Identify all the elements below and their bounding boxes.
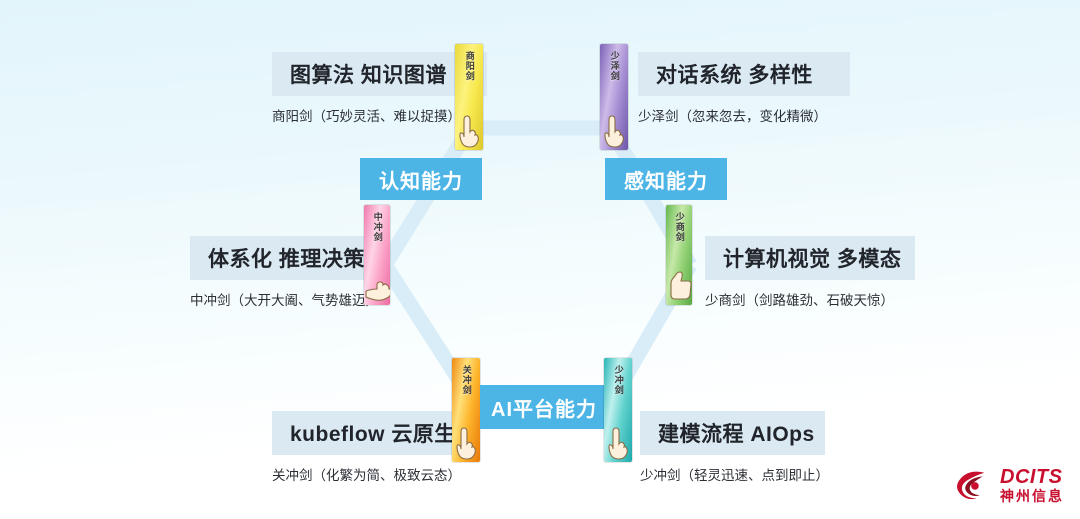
item-title: 对话系统 多样性	[656, 59, 813, 89]
item-title: 图算法 知识图谱	[290, 59, 447, 89]
logo-cn: 神州信息	[1000, 489, 1064, 503]
item-subtitle: 少泽剑（忽来忽去，变化精微）	[638, 105, 850, 125]
hand-point-side-icon	[364, 269, 390, 305]
sword-guanchong[interactable]: 关冲剑	[452, 358, 480, 462]
sword-label: 中冲剑	[372, 212, 381, 242]
capability-cognitive[interactable]: 认知能力	[360, 158, 482, 200]
item-title: 计算机视觉 多模态	[723, 243, 901, 273]
capability-label: 感知能力	[624, 165, 708, 194]
logo-wordmark: DCITS 神州信息	[1000, 467, 1064, 503]
item-title-band: 建模流程 AIOps	[640, 411, 825, 455]
hand-point-up-icon	[600, 112, 628, 148]
hand-point-up-icon	[452, 424, 480, 460]
capability-label: 认知能力	[379, 165, 463, 194]
sword-label: 少泽剑	[609, 51, 618, 81]
sword-label: 少商剑	[674, 212, 683, 242]
item-title-band: 体系化 推理决策	[190, 236, 386, 280]
sword-label: 商阳剑	[464, 51, 473, 81]
capability-ai-platform[interactable]: AI平台能力	[480, 385, 608, 429]
hand-point-up-icon	[604, 424, 632, 460]
sword-shaoze[interactable]: 少泽剑	[600, 44, 628, 150]
hexagon-connector-band	[0, 0, 1080, 519]
item-dialogue-system[interactable]: 对话系统 多样性 少泽剑（忽来忽去，变化精微）	[638, 52, 850, 125]
item-subtitle: 关冲剑（化繁为简、极致云态）	[272, 464, 472, 484]
capability-label: AI平台能力	[491, 393, 597, 422]
item-kubeflow-cloudnative[interactable]: kubeflow 云原生 关冲剑（化繁为简、极致云态）	[272, 411, 472, 484]
dcits-swirl-icon	[955, 468, 993, 502]
item-computer-vision[interactable]: 计算机视觉 多模态 少商剑（剑路雄劲、石破天惊）	[705, 236, 915, 309]
diagram-canvas: 图算法 知识图谱 商阳剑（巧妙灵活、难以捉摸） 商阳剑 少泽剑 对话系统 多样性…	[0, 0, 1080, 519]
sword-label: 关冲剑	[461, 365, 470, 395]
item-title-band: 对话系统 多样性	[638, 52, 850, 96]
item-modeling-aiops[interactable]: 建模流程 AIOps 少冲剑（轻灵迅速、点到即止）	[640, 411, 825, 484]
item-reasoning-decision[interactable]: 体系化 推理决策 中冲剑（大开大阖、气势雄迈）	[190, 236, 386, 309]
item-subtitle: 少商剑（剑路雄劲、石破天惊）	[705, 289, 915, 309]
capability-perceptive[interactable]: 感知能力	[605, 158, 727, 200]
sword-label: 少冲剑	[613, 365, 622, 395]
hand-point-up-icon	[455, 112, 483, 148]
sword-shaoshang[interactable]: 少商剑	[666, 205, 692, 305]
sword-shaochong[interactable]: 少冲剑	[604, 358, 632, 462]
sword-zhongchong[interactable]: 中冲剑	[364, 205, 390, 305]
item-subtitle: 少冲剑（轻灵迅速、点到即止）	[640, 464, 825, 484]
item-title: 建模流程 AIOps	[658, 418, 815, 448]
sword-shangyang[interactable]: 商阳剑	[455, 44, 483, 150]
item-title-band: 计算机视觉 多模态	[705, 236, 915, 280]
logo-en: DCITS	[1000, 467, 1064, 487]
hand-thumb-up-icon	[666, 267, 692, 303]
item-subtitle: 中冲剑（大开大阖、气势雄迈）	[190, 289, 386, 309]
item-title-band: kubeflow 云原生	[272, 411, 472, 455]
item-title: 体系化 推理决策	[208, 243, 365, 273]
dcits-logo: DCITS 神州信息	[955, 467, 1064, 503]
item-title: kubeflow 云原生	[290, 418, 456, 448]
